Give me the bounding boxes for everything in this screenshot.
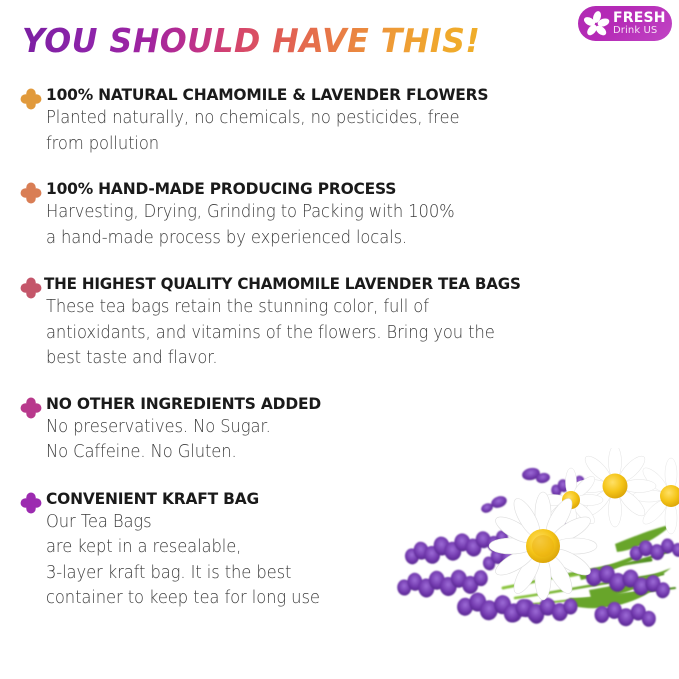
page-title: YOU SHOULD HAVE THIS! bbox=[22, 22, 480, 60]
feature-heading: CONVENIENT KRAFT BAG bbox=[46, 488, 651, 509]
feature-item: 100% HAND-MADE PRODUCING PROCESS Harvest… bbox=[0, 178, 679, 251]
product-feature-panel: YOU SHOULD HAVE THIS! FRESH Drink US bbox=[0, 0, 679, 679]
feature-body-line: container to keep tea for long use bbox=[46, 586, 641, 612]
feature-item: THE HIGHEST QUALITY CHAMOMILE LAVENDER T… bbox=[0, 273, 679, 372]
header: YOU SHOULD HAVE THIS! FRESH Drink US bbox=[0, 0, 679, 78]
brand-name-primary: FRESH bbox=[613, 11, 666, 25]
feature-body-line: No preservatives. No Sugar. bbox=[46, 415, 641, 441]
feature-body: Planted naturally, no chemicals, no pest… bbox=[46, 106, 641, 157]
flower-bullet-icon bbox=[20, 182, 42, 204]
feature-body: Harvesting, Drying, Grinding to Packing … bbox=[46, 200, 641, 251]
feature-body: Our Tea Bags are kept in a resealable, 3… bbox=[46, 510, 641, 612]
feature-heading: THE HIGHEST QUALITY CHAMOMILE LAVENDER T… bbox=[44, 273, 638, 294]
feature-body-line: antioxidants, and vitamins of the flower… bbox=[46, 321, 641, 347]
feature-item: CONVENIENT KRAFT BAG Our Tea Bags are ke… bbox=[0, 488, 679, 612]
feature-body-line: best taste and flavor. bbox=[46, 346, 641, 372]
feature-list: 100% NATURAL CHAMOMILE & LAVENDER FLOWER… bbox=[0, 78, 679, 612]
feature-body-line: a hand-made process by experienced local… bbox=[46, 226, 641, 252]
feature-body-line: are kept in a resealable, bbox=[46, 535, 641, 561]
feature-heading: 100% HAND-MADE PRODUCING PROCESS bbox=[46, 178, 651, 199]
feature-body-line: These tea bags retain the stunning color… bbox=[46, 295, 641, 321]
feature-item: NO OTHER INGREDIENTS ADDED No preservati… bbox=[0, 393, 679, 466]
flower-petals-icon bbox=[582, 9, 612, 39]
feature-body-line: Planted naturally, no chemicals, no pest… bbox=[46, 106, 641, 132]
feature-body: These tea bags retain the stunning color… bbox=[46, 295, 641, 372]
feature-body-line: from pollution bbox=[46, 132, 641, 158]
feature-body-line: Harvesting, Drying, Grinding to Packing … bbox=[46, 200, 641, 226]
flower-bullet-icon bbox=[20, 397, 42, 419]
logo-text-group: FRESH Drink US bbox=[613, 11, 666, 36]
feature-body-line: No Caffeine. No Gluten. bbox=[46, 440, 641, 466]
flower-bullet-icon bbox=[20, 277, 42, 299]
feature-body: No preservatives. No Sugar. No Caffeine.… bbox=[46, 415, 641, 466]
feature-body-line: Our Tea Bags bbox=[46, 510, 641, 536]
flower-bullet-icon bbox=[20, 88, 42, 110]
brand-logo: FRESH Drink US bbox=[578, 6, 672, 41]
flower-bullet-icon bbox=[20, 492, 42, 514]
feature-heading: 100% NATURAL CHAMOMILE & LAVENDER FLOWER… bbox=[46, 84, 651, 105]
feature-item: 100% NATURAL CHAMOMILE & LAVENDER FLOWER… bbox=[0, 84, 679, 157]
brand-name-secondary: Drink US bbox=[613, 26, 666, 36]
feature-body-line: 3-layer kraft bag. It is the best bbox=[46, 561, 641, 587]
feature-heading: NO OTHER INGREDIENTS ADDED bbox=[46, 393, 651, 414]
